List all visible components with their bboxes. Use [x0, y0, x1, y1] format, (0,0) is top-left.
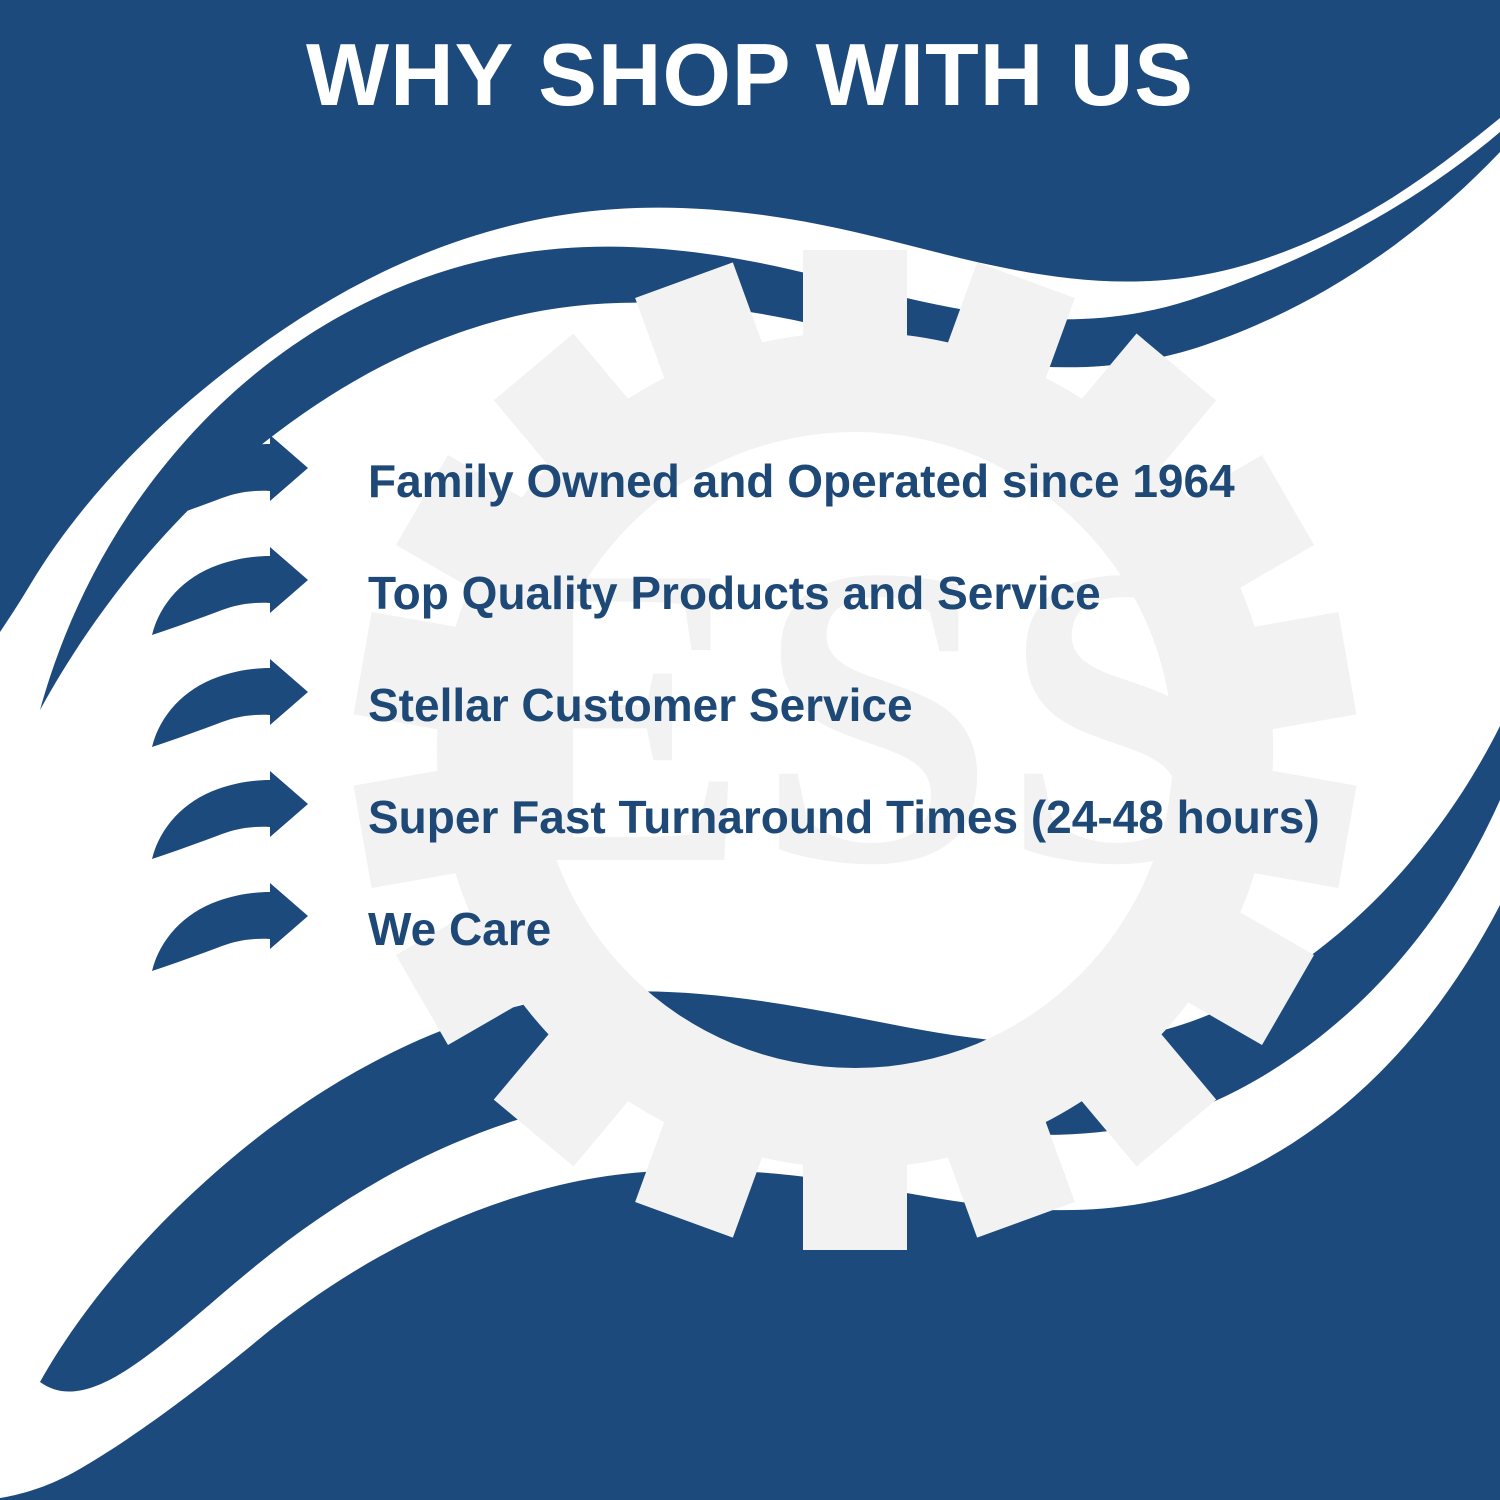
curved-arrow-right-icon: [150, 547, 310, 639]
list-item-label: Stellar Customer Service: [368, 682, 913, 728]
curved-arrow-right-icon: [150, 435, 310, 527]
curved-arrow-right-icon: [150, 883, 310, 975]
list-item-label: Super Fast Turnaround Times (24-48 hours…: [368, 794, 1320, 840]
bottom-blue-band: [0, 905, 1500, 1500]
list-item: Stellar Customer Service: [150, 649, 1450, 761]
list-item: Super Fast Turnaround Times (24-48 hours…: [150, 761, 1450, 873]
list-item: Top Quality Products and Service: [150, 537, 1450, 649]
list-item: Family Owned and Operated since 1964: [150, 425, 1450, 537]
promo-graphic: ESS WHY SHOP WITH US Family Owned and Op…: [0, 0, 1500, 1500]
list-item-label: We Care: [368, 906, 551, 952]
page-title: WHY SHOP WITH US: [306, 31, 1194, 119]
curved-arrow-right-icon: [150, 771, 310, 863]
list-item-label: Family Owned and Operated since 1964: [368, 458, 1235, 504]
header-banner: WHY SHOP WITH US: [0, 0, 1500, 150]
list-item-label: Top Quality Products and Service: [368, 570, 1101, 616]
benefits-list: Family Owned and Operated since 1964 Top…: [150, 425, 1450, 985]
list-item: We Care: [150, 873, 1450, 985]
curved-arrow-right-icon: [150, 659, 310, 751]
